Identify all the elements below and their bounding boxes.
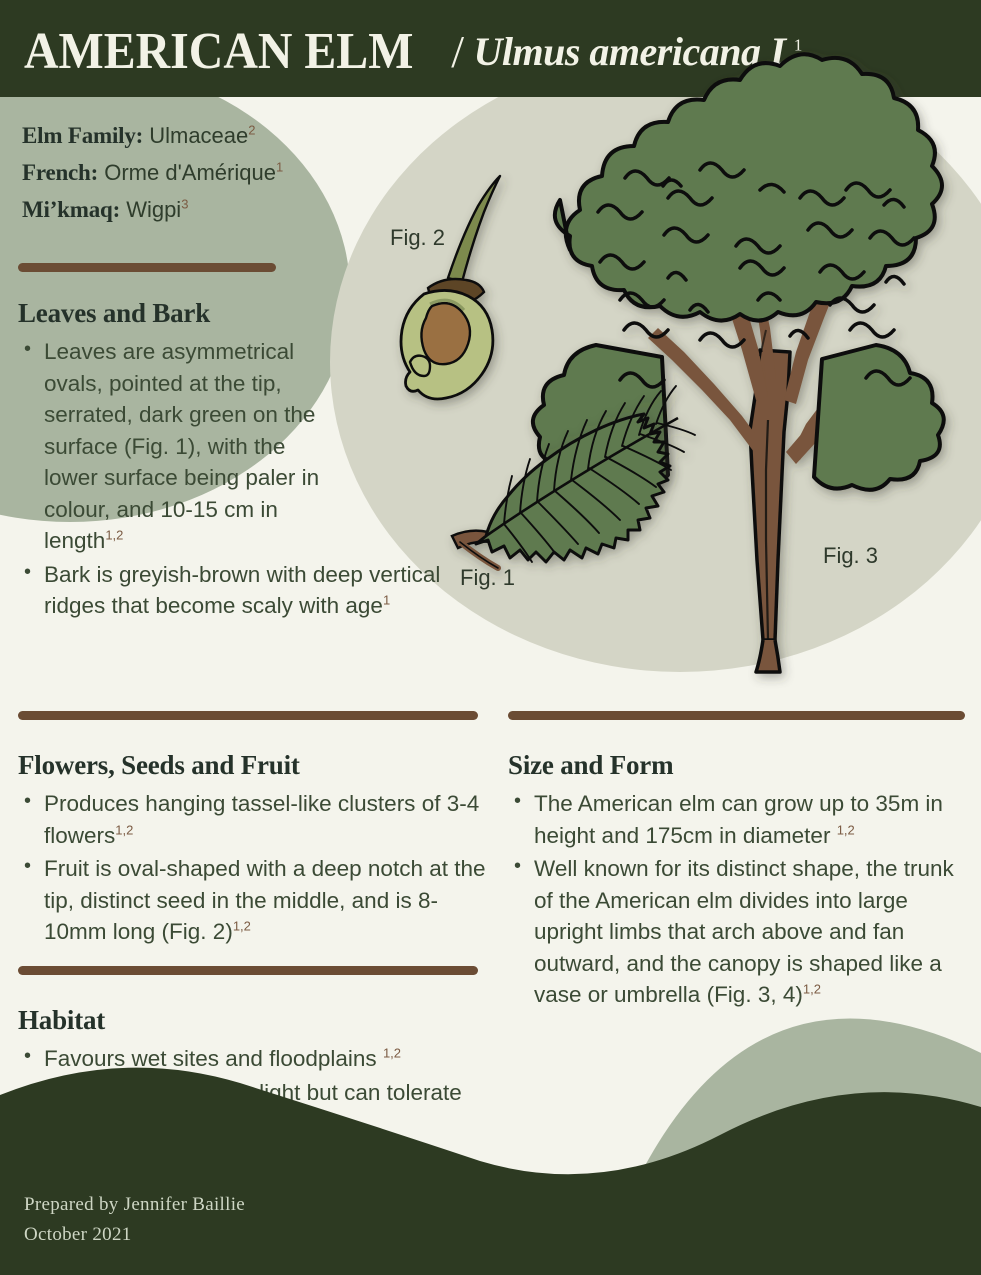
footer-prepared-by: Prepared by Jennifer Baillie (24, 1190, 245, 1219)
bullet-reference: 1 (383, 593, 390, 608)
section-title-flowers-seeds-and-fruit: Flowers, Seeds and Fruit (18, 750, 488, 781)
section-title-size-and-form: Size and Form (508, 750, 968, 781)
bullet-list-flowers: Produces hanging tassel-like clusters of… (18, 788, 488, 948)
bullet-text: The American elm can grow up to 35m in h… (534, 791, 943, 848)
section-size-and-form: Size and Form The American elm can grow … (508, 750, 968, 1013)
list-item: The American elm can grow up to 35m in h… (508, 788, 968, 851)
bullet-text: Bark is greyish-brown with deep vertical… (44, 562, 440, 619)
infographic-page: AMERICAN ELM / Ulmus americana L1 Elm Fa… (0, 0, 981, 1275)
bullet-list-leaves: Leaves are asymmetrical ovals, pointed a… (18, 336, 488, 622)
section-flowers-seeds-and-fruit: Flowers, Seeds and Fruit Produces hangin… (18, 750, 488, 950)
footer-credits: Prepared by Jennifer Baillie October 202… (24, 1190, 245, 1249)
bullet-reference: 1,2 (115, 822, 133, 837)
figure-2-caption: Fig. 2 (390, 225, 445, 251)
bullet-text: Leaves are asymmetrical ovals, pointed a… (44, 339, 319, 553)
divider-rule-low-left (18, 966, 478, 975)
bullet-reference: 1,2 (105, 528, 123, 543)
figure-3-caption: Fig. 3 (823, 543, 878, 569)
bullet-text: Fruit is oval-shaped with a deep notch a… (44, 856, 486, 944)
bullet-text: Produces hanging tassel-like clusters of… (44, 791, 479, 848)
list-item: Fruit is oval-shaped with a deep notch a… (18, 853, 488, 948)
list-item: Produces hanging tassel-like clusters of… (18, 788, 488, 851)
elm-tree-illustration (533, 54, 944, 672)
divider-rule-mid-right (508, 711, 965, 720)
bullet-reference: 1,2 (837, 822, 855, 837)
footer-date: October 2021 (24, 1220, 245, 1249)
list-item: Leaves are asymmetrical ovals, pointed a… (18, 336, 334, 557)
section-leaves-and-bark: Leaves and Bark Leaves are asymmetrical … (18, 298, 488, 624)
section-title-leaves-and-bark: Leaves and Bark (18, 298, 488, 329)
divider-rule-mid-left (18, 711, 478, 720)
bullet-reference: 1,2 (233, 919, 251, 934)
list-item: Bark is greyish-brown with deep vertical… (18, 559, 488, 622)
